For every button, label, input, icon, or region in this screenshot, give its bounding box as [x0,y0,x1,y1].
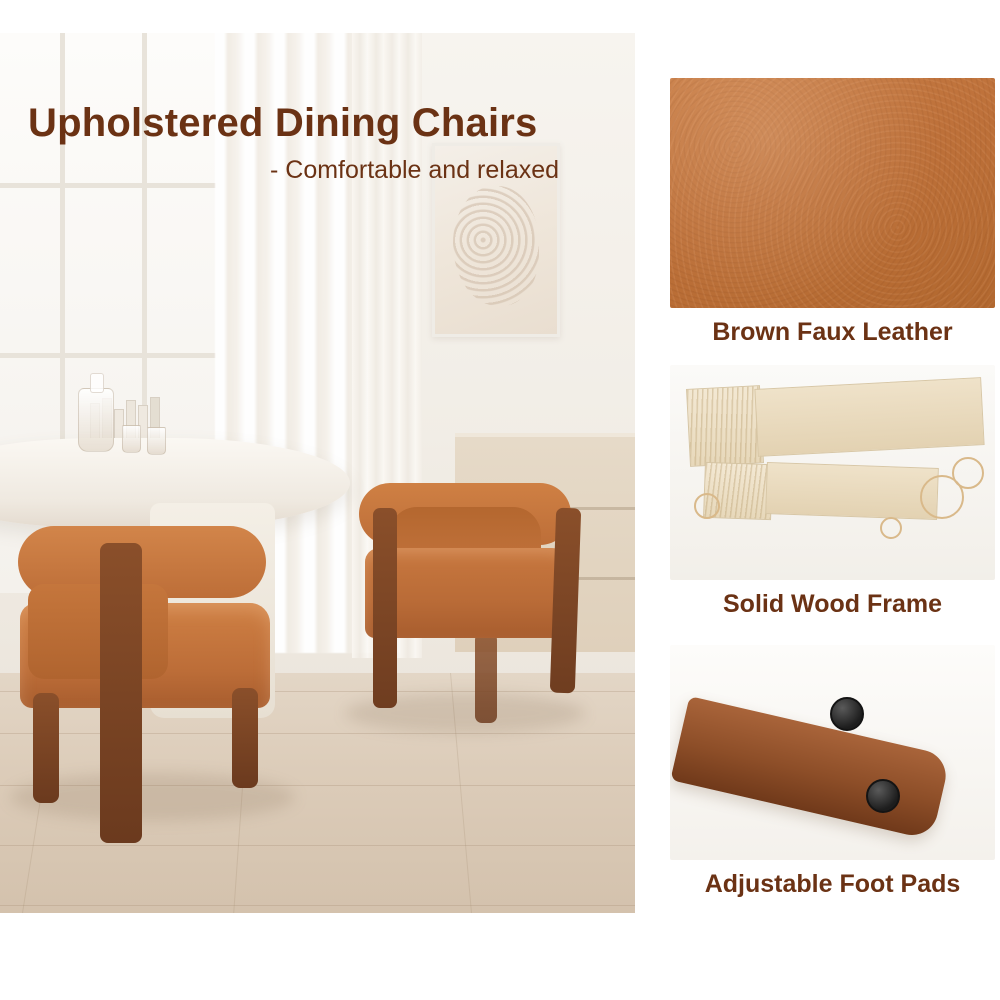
feature-leather-caption: Brown Faux Leather [670,318,995,347]
hero-title: Upholstered Dining Chairs [28,101,538,146]
window-mullion-horizontal [0,353,220,358]
feature-wood-caption: Solid Wood Frame [670,590,995,619]
leather-texture-swatch [670,78,995,308]
feature-footpads: Adjustable Foot Pads [670,645,995,899]
chair-leg [33,693,59,803]
wood-shaving [694,493,720,519]
wood-plank [765,462,939,520]
feature-footpads-caption: Adjustable Foot Pads [670,870,995,899]
glass-decanter [78,388,114,452]
chair-arm-cushion [28,584,168,679]
drinking-glass [122,425,141,453]
hero-room-photo: Upholstered Dining Chairs - Comfortable … [0,33,635,913]
chair-leg [232,688,258,788]
wood-planks-photo [670,365,995,580]
window-mullion-horizontal [0,183,220,188]
feature-column: Brown Faux Leather Solid Wood Frame [660,0,1000,1000]
product-image-canvas: Upholstered Dining Chairs - Comfortable … [0,0,1000,1000]
feature-wood: Solid Wood Frame [670,365,995,619]
chair-leg-closeup [670,696,950,840]
wood-shaving [880,517,902,539]
dining-chair-front [0,488,300,833]
hero-subtitle: - Comfortable and relaxed [270,156,559,185]
feature-leather: Brown Faux Leather [670,78,995,347]
drinking-glass [147,427,166,455]
chair-leg-foot-pad-photo [670,645,995,860]
chair-leg [475,633,497,723]
chair-leg [550,508,581,694]
adjustable-foot-pad [866,779,900,813]
wood-shaving [952,457,984,489]
wood-plank [754,377,984,457]
dining-chair-back [345,473,600,748]
wood-plank-end-grain [686,385,764,467]
chair-front-leg [100,543,142,843]
adjustable-foot-pad [830,697,864,731]
chair-leg [373,508,397,708]
